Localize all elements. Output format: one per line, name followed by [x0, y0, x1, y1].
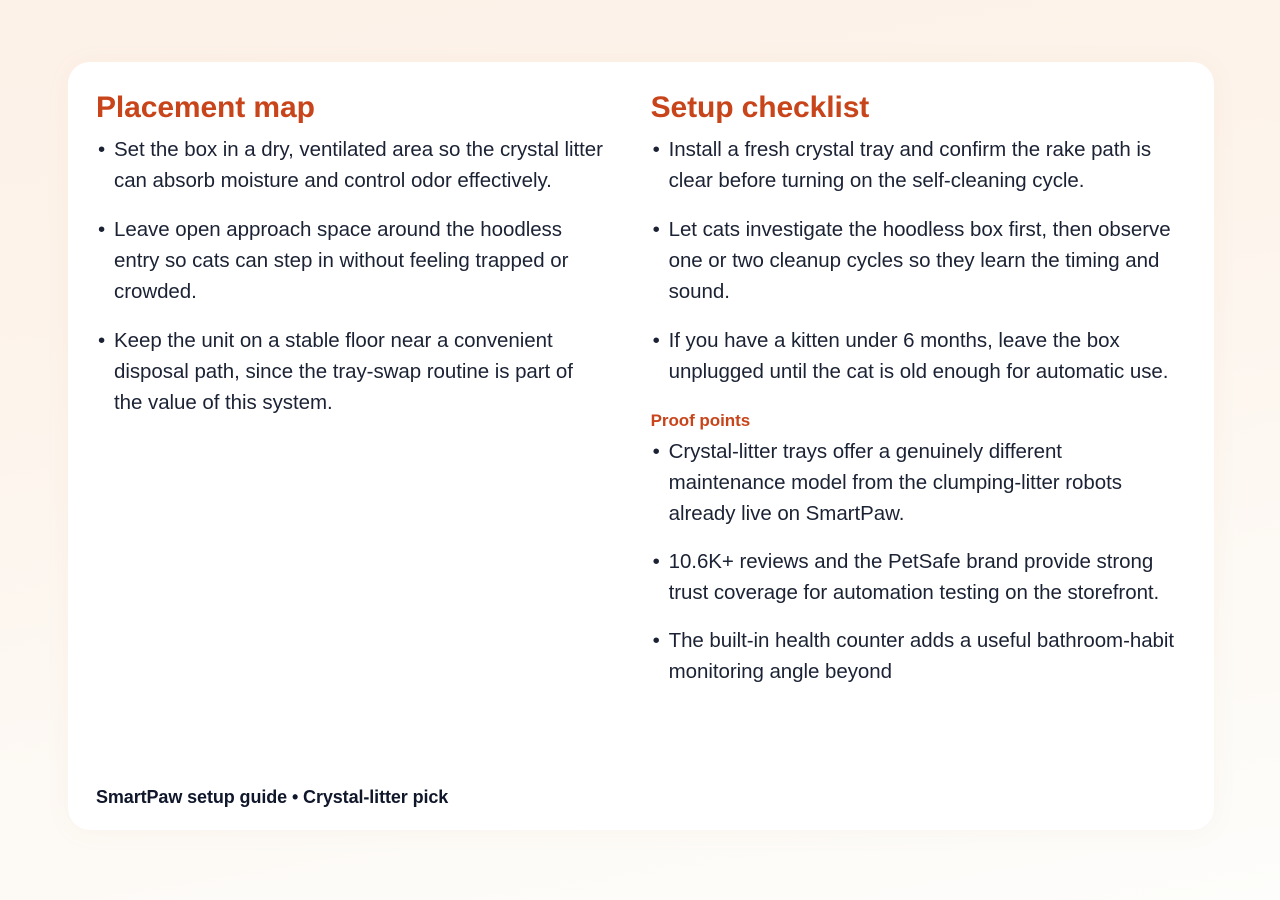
list-item: Keep the unit on a stable floor near a c…: [96, 326, 607, 419]
list-item: If you have a kitten under 6 months, lea…: [651, 326, 1182, 388]
card-body: Placement map Set the box in a dry, vent…: [68, 62, 1214, 830]
list-item: Let cats investigate the hoodless box fi…: [651, 215, 1182, 308]
list-item: 10.6K+ reviews and the PetSafe brand pro…: [651, 547, 1182, 609]
placement-map-column: Placement map Set the box in a dry, vent…: [96, 90, 651, 790]
proof-points-list: Crystal-litter trays offer a genuinely d…: [651, 437, 1182, 688]
page-root: Placement map Set the box in a dry, vent…: [0, 0, 1280, 900]
placement-map-heading: Placement map: [96, 90, 607, 125]
card-footer: SmartPaw setup guide • Crystal-litter pi…: [96, 787, 448, 808]
list-item: Set the box in a dry, ventilated area so…: [96, 135, 607, 197]
setup-checklist-column: Setup checklist Install a fresh crystal …: [651, 90, 1182, 790]
placement-map-list: Set the box in a dry, ventilated area so…: [96, 135, 607, 419]
list-item: Leave open approach space around the hoo…: [96, 215, 607, 308]
setup-checklist-heading: Setup checklist: [651, 90, 1182, 125]
list-item: Install a fresh crystal tray and confirm…: [651, 135, 1182, 197]
content-card: Placement map Set the box in a dry, vent…: [68, 62, 1214, 830]
list-item: Crystal-litter trays offer a genuinely d…: [651, 437, 1182, 530]
two-column-layout: Placement map Set the box in a dry, vent…: [96, 90, 1182, 790]
setup-checklist-list: Install a fresh crystal tray and confirm…: [651, 135, 1182, 388]
proof-points-subheading: Proof points: [651, 410, 1182, 431]
list-item: The built-in health counter adds a usefu…: [651, 626, 1182, 688]
